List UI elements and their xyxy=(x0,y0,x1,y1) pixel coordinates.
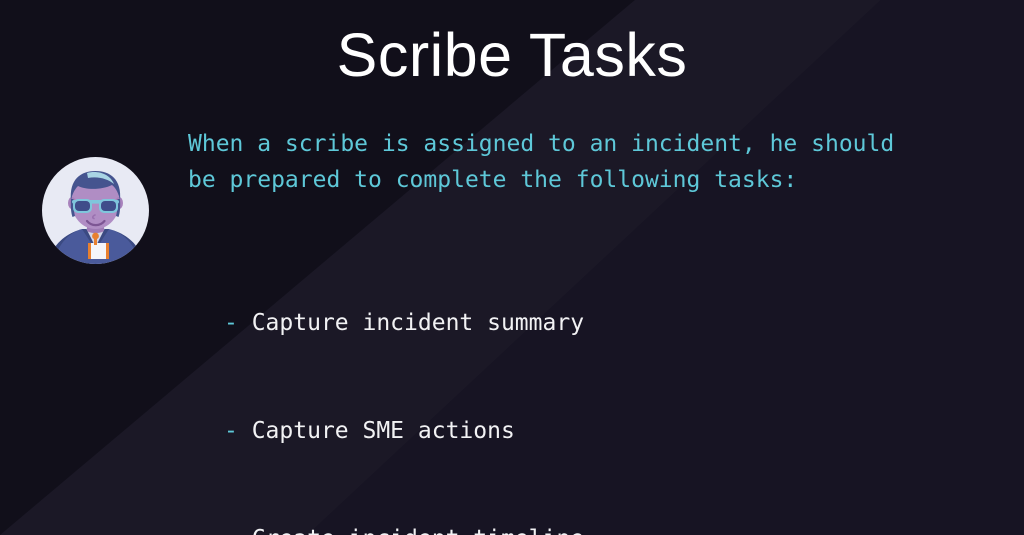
slide-canvas: Scribe Tasks xyxy=(0,0,1024,535)
list-item: - Create incident timeline xyxy=(224,521,723,535)
bullet-dash-icon: - xyxy=(224,526,252,535)
bullet-dash-icon: - xyxy=(224,310,252,336)
page-title: Scribe Tasks xyxy=(0,22,1024,89)
list-item: - Capture incident summary xyxy=(224,305,723,341)
task-label: Capture SME actions xyxy=(252,418,515,444)
task-label: Create incident timeline xyxy=(252,526,584,535)
list-item: - Capture SME actions xyxy=(224,413,723,449)
intro-paragraph: When a scribe is assigned to an incident… xyxy=(188,126,894,198)
task-list: - Capture incident summary - Capture SME… xyxy=(224,233,723,535)
avatar-illustration xyxy=(42,157,149,264)
bullet-dash-icon: - xyxy=(224,418,252,444)
scribe-avatar xyxy=(42,157,149,264)
intro-line-2: be prepared to complete the following ta… xyxy=(188,167,797,193)
intro-line-1: When a scribe is assigned to an incident… xyxy=(188,131,894,157)
task-label: Capture incident summary xyxy=(252,310,584,336)
